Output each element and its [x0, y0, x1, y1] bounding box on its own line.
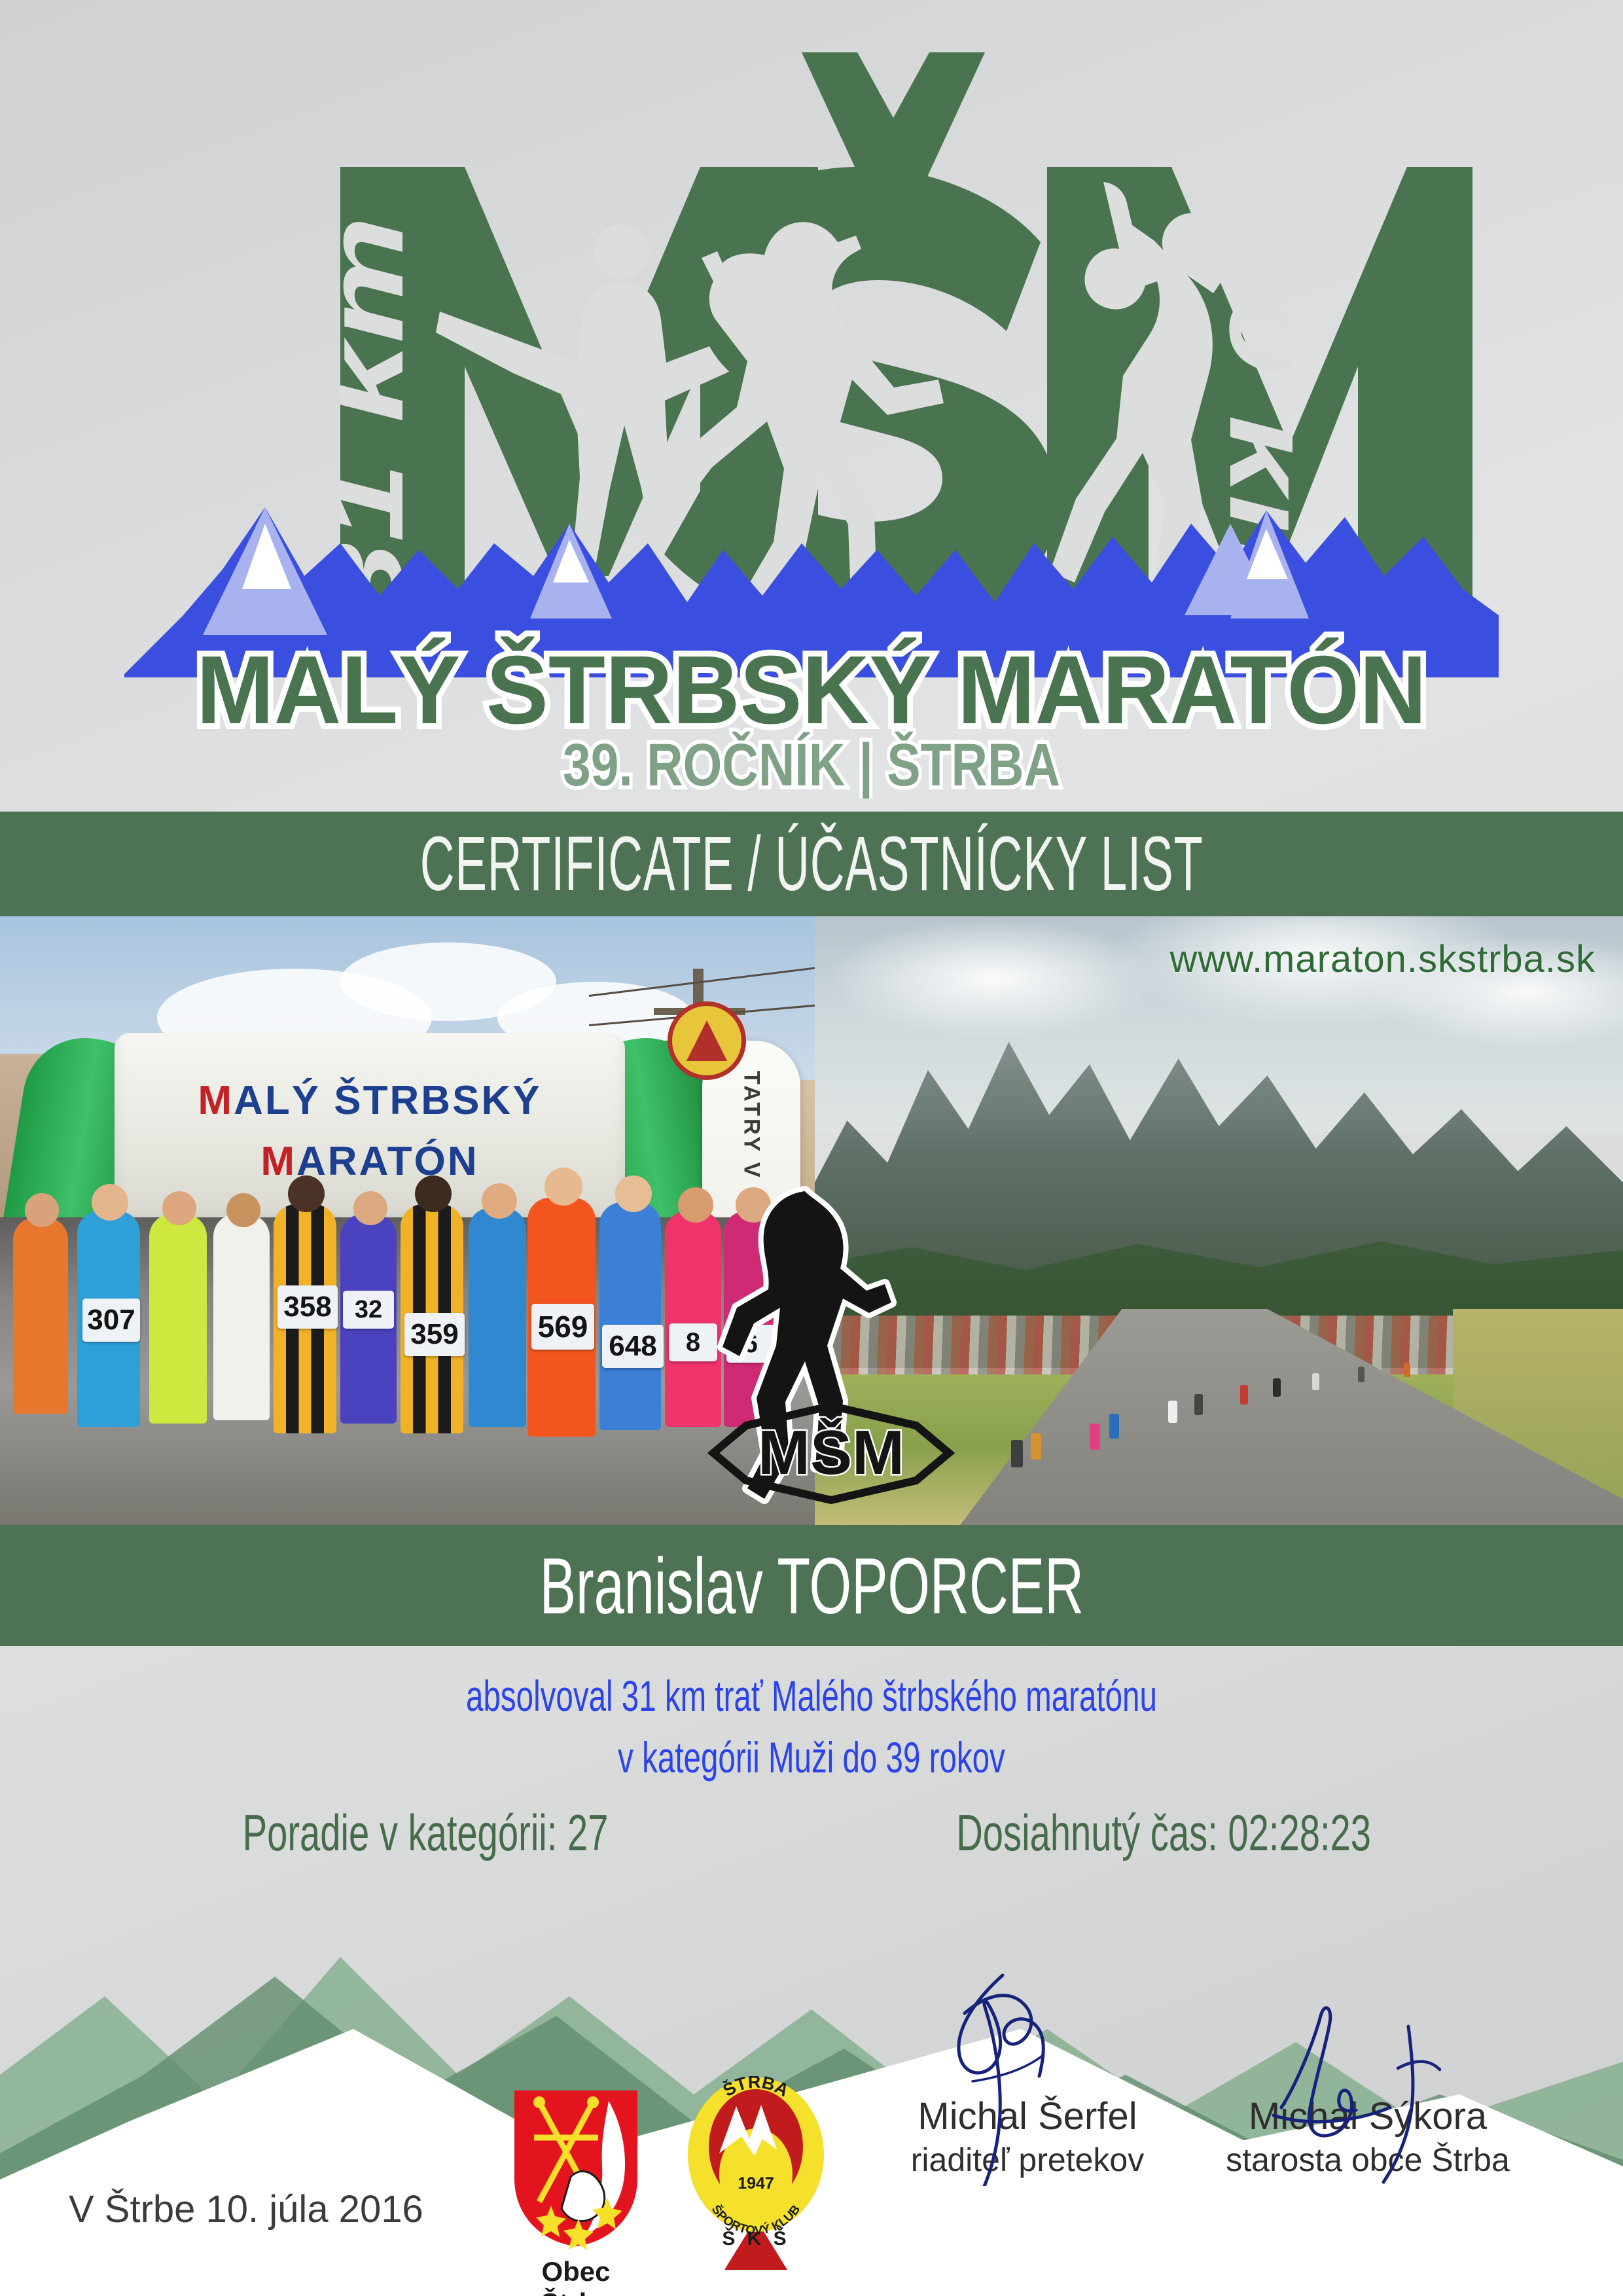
arch-rest1: ALÝ ŠTRBSKÝ [234, 1078, 541, 1123]
handwritten-signature-icon [916, 1970, 1139, 2186]
municipality-label: Obec Štrba [504, 2256, 648, 2296]
distant-runner [1194, 1394, 1203, 1415]
certificate-title: CERTIFICATE / ÚČASTNÍCKY LIST [420, 819, 1204, 908]
certificate-page: 31 km 10 km [0, 0, 1623, 2296]
distant-runner [1273, 1378, 1281, 1397]
sponsor-emblem-icon [668, 1001, 746, 1080]
runner-head [353, 1191, 387, 1225]
runner-head [615, 1175, 652, 1212]
website-url[interactable]: www.maraton.skstrba.sk [1169, 937, 1596, 981]
runner [213, 1214, 270, 1420]
certificate-footer: V Štrbe 10. júla 2016 [0, 2016, 1623, 2296]
club-year: 1947 [738, 2174, 774, 2193]
arch-rest2: ARATÓN [296, 1139, 479, 1184]
arch-banner-line-2: MARATÓN [260, 1138, 478, 1185]
municipality-crest-block: Obec Štrba [504, 2087, 648, 2283]
finish-time: Dosiahnutý čas: 02:28:23 [956, 1803, 1371, 1863]
description-line-2: v kategórii Muži do 39 rokov [227, 1727, 1396, 1789]
msm-logo: 31 km 10 km [124, 26, 1499, 798]
runner-head [92, 1184, 128, 1221]
runner-bib: 359 [404, 1313, 465, 1356]
runner-head [482, 1183, 517, 1219]
sports-club-logo-block: ŠTRBA ŠPORTOVÝ KLUB 1947 Š K Š [684, 2076, 834, 2286]
achievement-description: absolvoval 31 km trať Malého štrbského m… [0, 1666, 1623, 1788]
category-rank: Poradie v kategórii: 27 [242, 1803, 608, 1863]
certificate-title-band: CERTIFICATE / ÚČASTNÍCKY LIST [0, 812, 1623, 916]
arch-banner-line-1: MALÝ ŠTRBSKÝ [198, 1077, 541, 1124]
distant-runner [1312, 1373, 1319, 1390]
runner [469, 1208, 526, 1427]
runner [13, 1217, 68, 1414]
distant-runner [1358, 1367, 1364, 1382]
runner-bib: 307 [82, 1299, 140, 1342]
distant-runner [1240, 1385, 1248, 1405]
runner-head [226, 1193, 260, 1227]
club-bottom-text: Š K Š [722, 2227, 789, 2250]
distant-runner [1404, 1363, 1410, 1377]
recipient-name-band: Branislav TOPORCER [0, 1525, 1623, 1646]
distant-runner [1031, 1433, 1041, 1460]
signature-block-mayor: Michal Sýkora starosta obce Štrba [1198, 2094, 1538, 2179]
distant-runner [1090, 1424, 1100, 1450]
handwritten-signature-icon [1243, 1970, 1492, 2186]
runner-head [544, 1168, 582, 1206]
event-logo-block: 31 km 10 km [0, 0, 1623, 795]
runner [599, 1202, 661, 1430]
runner-head [162, 1191, 196, 1225]
distant-runner [1109, 1414, 1119, 1439]
msm-running-emblem: MŠM [707, 1178, 955, 1505]
event-subtitle: 39. ROČNÍK | ŠTRBA [563, 731, 1060, 798]
photo-start-line: MALÝ ŠTRBSKÝ MARATÓN ŠTART - CIEĽ TATRY … [0, 916, 815, 1525]
arch-m1: M [198, 1078, 234, 1123]
runner-head [25, 1193, 59, 1227]
signature-block-director: Michal Šerfel riaditeľ pretekov [857, 2094, 1198, 2179]
description-line-1: absolvoval 31 km trať Malého štrbského m… [227, 1666, 1396, 1727]
event-title: MALÝ ŠTRBSKÝ MARATÓN [196, 636, 1427, 744]
arch-m2: M [260, 1139, 296, 1184]
sks-strba-club-icon: ŠTRBA ŠPORTOVÝ KLUB 1947 Š K Š [684, 2076, 828, 2272]
emblem-label: MŠM [758, 1417, 904, 1488]
runner-bib: 358 [277, 1285, 338, 1329]
runner-bib: 569 [531, 1304, 594, 1350]
runner [149, 1214, 207, 1424]
runner-bib: 648 [602, 1325, 664, 1368]
runner-bib: 32 [343, 1291, 394, 1329]
obec-strba-crest-icon [510, 2087, 641, 2250]
recipient-name: Branislav TOPORCER [539, 1540, 1083, 1632]
runner-head [288, 1175, 325, 1212]
place-and-date: V Štrbe 10. júla 2016 [69, 2187, 423, 2231]
distant-runner [1011, 1440, 1023, 1467]
runner-head [415, 1175, 452, 1212]
distant-runner [1168, 1401, 1177, 1423]
results-row: Poradie v kategórii: 27 Dosiahnutý čas: … [0, 1803, 1623, 1863]
